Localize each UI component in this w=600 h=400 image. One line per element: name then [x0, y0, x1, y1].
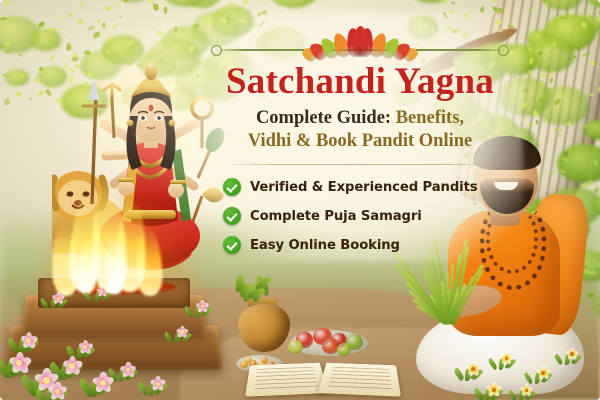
flower-center — [57, 297, 61, 301]
leaf — [548, 77, 554, 84]
darbha-grass-bundle — [400, 258, 496, 332]
flower-center — [26, 338, 31, 343]
leaf — [221, 19, 227, 24]
leaf — [105, 5, 112, 12]
leaf-cluster — [527, 37, 575, 71]
kalash-pot — [238, 304, 290, 352]
leaf — [119, 16, 122, 18]
flower-center — [100, 380, 106, 386]
flower — [96, 286, 107, 297]
text-content-panel: Satchandi Yagna Complete Guide: Benefits… — [205, 26, 515, 264]
leaf — [492, 0, 498, 3]
subtitle-line-1: Complete Guide: Benefits, — [205, 107, 515, 130]
check-circle-icon — [223, 236, 241, 254]
leaf — [443, 11, 447, 19]
leaf — [78, 1, 83, 6]
leaf — [216, 0, 221, 1]
leaf — [464, 13, 469, 17]
book-left-page — [245, 363, 329, 397]
flower — [486, 382, 501, 397]
leaf — [450, 0, 455, 5]
feature-item: Easy Online Booking — [223, 235, 515, 255]
flower — [520, 384, 533, 397]
book-text-lines — [327, 367, 391, 391]
promo-banner: Satchandi Yagna Complete Guide: Benefits… — [0, 0, 600, 400]
leaf — [38, 92, 44, 96]
feature-list: Verified & Experienced PanditsComplete P… — [223, 177, 515, 255]
flower — [176, 326, 188, 338]
leaf — [531, 7, 536, 11]
leaf — [5, 0, 9, 6]
subtitle-dark-text: Complete Guide: — [256, 108, 391, 128]
feature-label: Easy Online Booking — [250, 238, 400, 253]
leaf — [495, 7, 504, 15]
leaf — [5, 50, 11, 54]
flower — [62, 356, 82, 376]
flower — [466, 362, 480, 376]
leaf — [153, 3, 159, 11]
leaf — [540, 71, 547, 79]
flower — [52, 292, 65, 305]
leaf — [244, 0, 249, 4]
flower — [78, 340, 92, 354]
leaf — [29, 97, 32, 100]
flower — [120, 362, 136, 378]
leaf — [257, 12, 262, 17]
check-circle-icon — [223, 207, 241, 225]
flower — [500, 352, 513, 365]
flower-center — [541, 371, 545, 375]
leaf — [97, 19, 100, 23]
leaf — [76, 17, 84, 25]
leaf — [45, 89, 52, 97]
banner-title: Satchandi Yagna — [205, 60, 515, 104]
flower-center — [180, 330, 183, 333]
flower-center — [492, 388, 496, 392]
book-right-page — [317, 363, 401, 397]
leaf-cluster — [5, 69, 28, 86]
feature-label: Complete Puja Samagri — [250, 209, 422, 224]
leaf — [261, 9, 268, 16]
leaf — [582, 52, 590, 57]
flower-center — [156, 382, 160, 386]
banner-subtitle: Complete Guide: Benefits, Vidhi & Book P… — [205, 107, 515, 153]
ornament-rule-cap-right — [498, 45, 509, 56]
leaf — [441, 0, 448, 5]
subtitle-gold-text: Benefits, — [391, 108, 464, 128]
leaf — [56, 15, 62, 22]
ornament-row — [205, 26, 515, 58]
flower — [196, 300, 209, 313]
subtitle-divider — [222, 164, 498, 165]
puja-offerings — [218, 284, 428, 394]
feature-item: Verified & Experienced Pandits — [223, 177, 515, 197]
feature-item: Complete Puja Samagri — [223, 206, 515, 226]
leaf — [573, 55, 576, 57]
book-text-lines — [255, 367, 319, 391]
leaf — [256, 0, 263, 3]
check-circle-icon — [223, 178, 241, 196]
leaf — [37, 22, 45, 29]
subtitle-line-2: Vidhi & Book Pandit Online — [205, 130, 515, 153]
leaf — [589, 92, 593, 96]
flower — [20, 332, 37, 349]
flower — [92, 372, 114, 394]
ornament-rule-cap-left — [211, 45, 222, 56]
flower-center — [55, 389, 60, 394]
flower — [150, 376, 165, 391]
flower — [536, 366, 550, 380]
leaf — [18, 53, 22, 56]
lotus-ornament-icon — [308, 25, 412, 59]
leaf — [16, 91, 22, 97]
leaf — [3, 98, 11, 106]
feature-label: Verified & Experienced Pandits — [250, 180, 478, 195]
leaf — [68, 12, 73, 18]
flower-center — [570, 352, 573, 355]
leaf — [480, 7, 484, 13]
scripture-book — [248, 352, 398, 398]
leaf — [449, 8, 456, 15]
flower — [566, 348, 578, 360]
leaf — [163, 6, 168, 14]
flower — [8, 352, 31, 375]
leaf — [464, 18, 471, 23]
leaf — [39, 67, 43, 71]
leaf — [34, 77, 38, 83]
leaf — [114, 2, 119, 7]
flower-center — [69, 363, 75, 369]
flower — [48, 382, 67, 400]
flower-center — [525, 389, 529, 393]
leaf — [495, 17, 503, 25]
leaf — [589, 60, 596, 67]
leaf-cluster — [586, 0, 600, 8]
